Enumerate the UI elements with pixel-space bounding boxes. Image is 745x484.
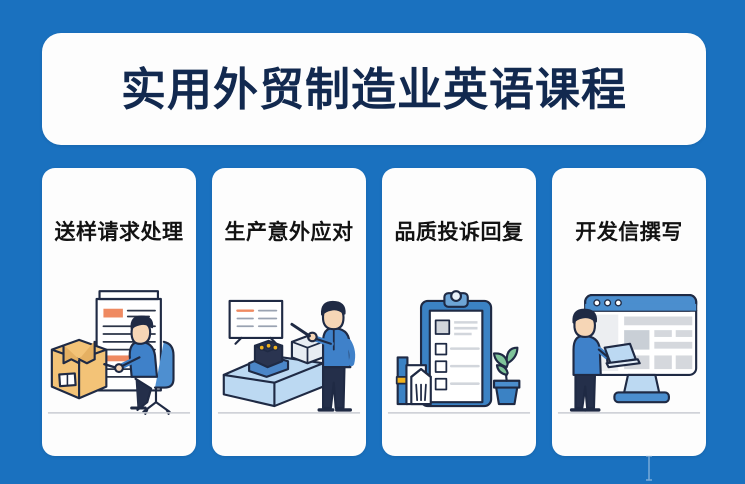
outreach-email-illustration <box>556 263 702 444</box>
feature-card-row: 送样请求处理 <box>42 168 706 456</box>
feature-card-title: 生产意外应对 <box>212 216 366 246</box>
feature-card-sample-request[interactable]: 送样请求处理 <box>42 168 196 456</box>
sample-request-illustration <box>46 263 192 444</box>
feature-card-title: 送样请求处理 <box>42 216 196 246</box>
feature-card-production-incident[interactable]: 生产意外应对 <box>212 168 366 456</box>
page-title: 实用外贸制造业英语课程 <box>121 67 627 112</box>
poster-canvas: 实用外贸制造业英语课程 送样请求处理 <box>0 0 745 484</box>
feature-card-title: 品质投诉回复 <box>382 216 536 246</box>
quality-complaint-illustration <box>386 263 532 444</box>
feature-card-quality-complaint[interactable]: 品质投诉回复 <box>382 168 536 456</box>
feature-card-outreach-email[interactable]: 开发信撰写 <box>552 168 706 456</box>
text-cursor-icon <box>645 455 653 481</box>
production-incident-illustration <box>216 263 362 444</box>
title-card: 实用外贸制造业英语课程 <box>42 33 706 145</box>
feature-card-title: 开发信撰写 <box>552 216 706 246</box>
